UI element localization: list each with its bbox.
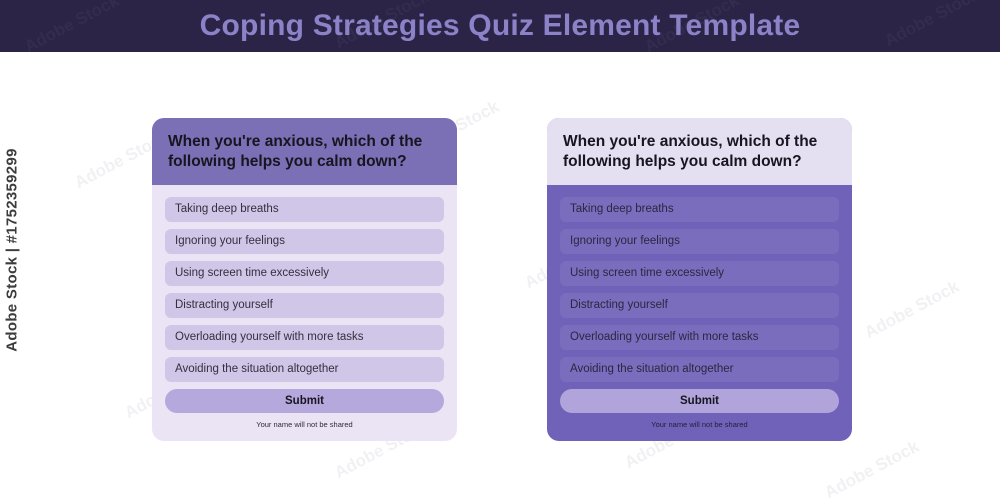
quiz-option[interactable]: Avoiding the situation altogether	[560, 357, 839, 382]
quiz-option[interactable]: Overloading yourself with more tasks	[560, 325, 839, 350]
quiz-option[interactable]: Avoiding the situation altogether	[165, 357, 444, 382]
page-banner: Coping Strategies Quiz Element Template	[0, 0, 1000, 52]
submit-button[interactable]: Submit	[165, 389, 444, 413]
watermark-tile: Adobe Stock	[861, 277, 962, 343]
quiz-option[interactable]: Taking deep breaths	[560, 197, 839, 222]
quiz-option[interactable]: Taking deep breaths	[165, 197, 444, 222]
page-title: Coping Strategies Quiz Element Template	[200, 9, 801, 43]
quiz-card-header: When you're anxious, which of the follow…	[547, 118, 852, 185]
submit-button[interactable]: Submit	[560, 389, 839, 413]
quiz-option[interactable]: Using screen time excessively	[165, 261, 444, 286]
quiz-option[interactable]: Distracting yourself	[165, 293, 444, 318]
quiz-card-body: Taking deep breaths Ignoring your feelin…	[547, 185, 852, 441]
privacy-footnote: Your name will not be shared	[165, 420, 444, 429]
quiz-option[interactable]: Using screen time excessively	[560, 261, 839, 286]
quiz-option[interactable]: Distracting yourself	[560, 293, 839, 318]
quiz-card-header: When you're anxious, which of the follow…	[152, 118, 457, 185]
stock-id-watermark: Adobe Stock | #1752359299	[4, 148, 21, 351]
quiz-option[interactable]: Overloading yourself with more tasks	[165, 325, 444, 350]
quiz-option[interactable]: Ignoring your feelings	[560, 229, 839, 254]
watermark-tile: Adobe Stock	[821, 437, 922, 503]
quiz-question: When you're anxious, which of the follow…	[563, 132, 836, 172]
quiz-card-light: When you're anxious, which of the follow…	[152, 118, 457, 441]
quiz-option[interactable]: Ignoring your feelings	[165, 229, 444, 254]
privacy-footnote: Your name will not be shared	[560, 420, 839, 429]
quiz-card-dark: When you're anxious, which of the follow…	[547, 118, 852, 441]
quiz-question: When you're anxious, which of the follow…	[168, 132, 441, 172]
quiz-card-body: Taking deep breaths Ignoring your feelin…	[152, 185, 457, 441]
